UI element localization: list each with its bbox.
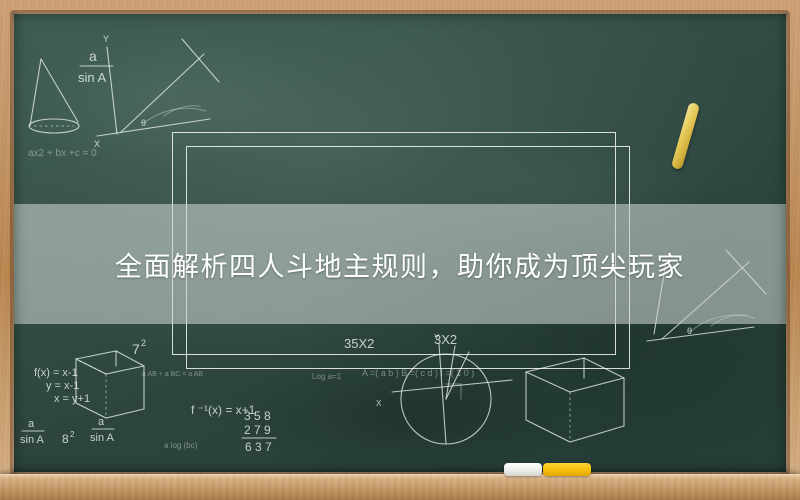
- frame-inner-shadow: [12, 12, 788, 474]
- chalk-tray-lip: [0, 474, 800, 478]
- chalk-tray: [0, 474, 800, 500]
- chalk-piece-yellow: [543, 463, 591, 476]
- screenshot-root: a sin A ax2 + bx +c = 0 Y X θ f(x) = x-: [0, 0, 800, 500]
- chalk-piece-white: [504, 463, 542, 476]
